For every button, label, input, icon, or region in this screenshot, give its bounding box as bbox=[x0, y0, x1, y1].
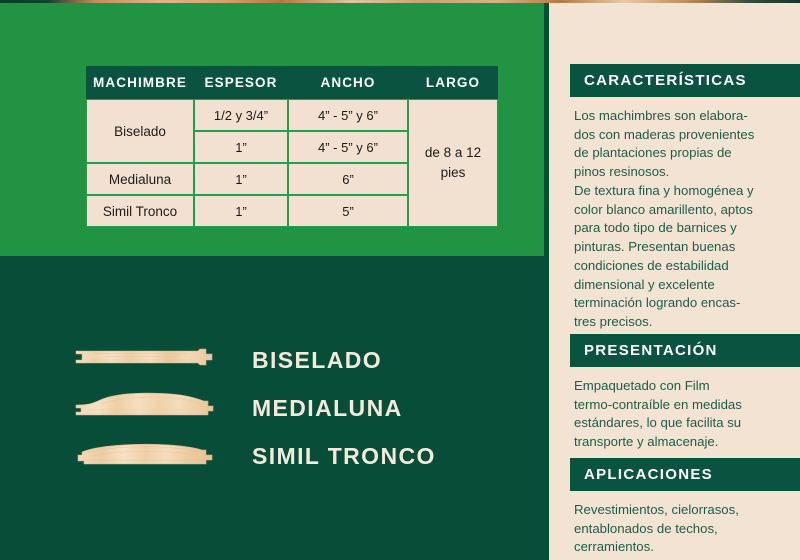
machimbre-spec-sheet: MACHIMBRE ESPESOR ANCHO LARGO Biselado 1… bbox=[0, 0, 800, 560]
section-title-aplicaciones: APLICACIONES bbox=[570, 458, 800, 491]
top-image-sliver bbox=[0, 0, 800, 3]
column-header-espesor: ESPESOR bbox=[194, 66, 288, 99]
section-body-aplicaciones: Revestimientos, cielorrasos, entablonado… bbox=[570, 491, 800, 557]
profile-label-medialuna: MEDIALUNA bbox=[252, 395, 403, 422]
cell-espesor-biselado-1: 1/2 y 3/4” bbox=[194, 99, 288, 131]
specifications-table: MACHIMBRE ESPESOR ANCHO LARGO Biselado 1… bbox=[86, 66, 498, 227]
profile-item-simil-tronco: SIMIL TRONCO bbox=[72, 430, 512, 482]
profile-item-biselado: BISELADO bbox=[72, 334, 512, 386]
vertical-divider bbox=[544, 0, 549, 560]
section-title-caracteristicas: CARACTERÍSTICAS bbox=[570, 64, 800, 97]
cell-product-medialuna: Medialuna bbox=[86, 163, 194, 195]
cell-espesor-medialuna: 1” bbox=[194, 163, 288, 195]
column-header-largo: LARGO bbox=[408, 66, 498, 99]
table-header-row: MACHIMBRE ESPESOR ANCHO LARGO bbox=[86, 66, 498, 99]
beveled-plank-profile-icon bbox=[72, 337, 224, 383]
cell-product-biselado: Biselado bbox=[86, 99, 194, 163]
section-presentacion: PRESENTACIÓN Empaquetado con Film termo-… bbox=[570, 334, 800, 452]
half-moon-plank-profile-icon bbox=[72, 385, 224, 431]
column-header-ancho: ANCHO bbox=[288, 66, 408, 99]
profile-illustrations: BISELADO bbox=[0, 256, 544, 560]
cell-largo-merged: de 8 a 12 pies bbox=[408, 99, 498, 227]
cell-ancho-biselado-1: 4” - 5” y 6” bbox=[288, 99, 408, 131]
section-body-caracteristicas: Los machimbres son elabora- dos con made… bbox=[570, 97, 800, 332]
section-body-presentacion: Empaquetado con Film termo-contraíble en… bbox=[570, 367, 800, 452]
cell-ancho-biselado-2: 4” - 5” y 6” bbox=[288, 131, 408, 163]
section-aplicaciones: APLICACIONES Revestimientos, cielorrasos… bbox=[570, 458, 800, 557]
cell-espesor-biselado-2: 1” bbox=[194, 131, 288, 163]
profile-item-medialuna: MEDIALUNA bbox=[72, 382, 512, 434]
section-title-presentacion: PRESENTACIÓN bbox=[570, 334, 800, 367]
cell-ancho-simil-tronco: 5” bbox=[288, 195, 408, 227]
table-row: Biselado 1/2 y 3/4” 4” - 5” y 6” de 8 a … bbox=[86, 99, 498, 131]
cell-product-simil-tronco: Simil Tronco bbox=[86, 195, 194, 227]
cell-espesor-simil-tronco: 1” bbox=[194, 195, 288, 227]
column-header-machimbre: MACHIMBRE bbox=[86, 66, 194, 99]
section-caracteristicas: CARACTERÍSTICAS Los machimbres son elabo… bbox=[570, 64, 800, 332]
cell-ancho-medialuna: 6” bbox=[288, 163, 408, 195]
profile-label-simil-tronco: SIMIL TRONCO bbox=[252, 443, 436, 470]
log-look-plank-profile-icon bbox=[72, 433, 224, 479]
profile-label-biselado: BISELADO bbox=[252, 347, 382, 374]
